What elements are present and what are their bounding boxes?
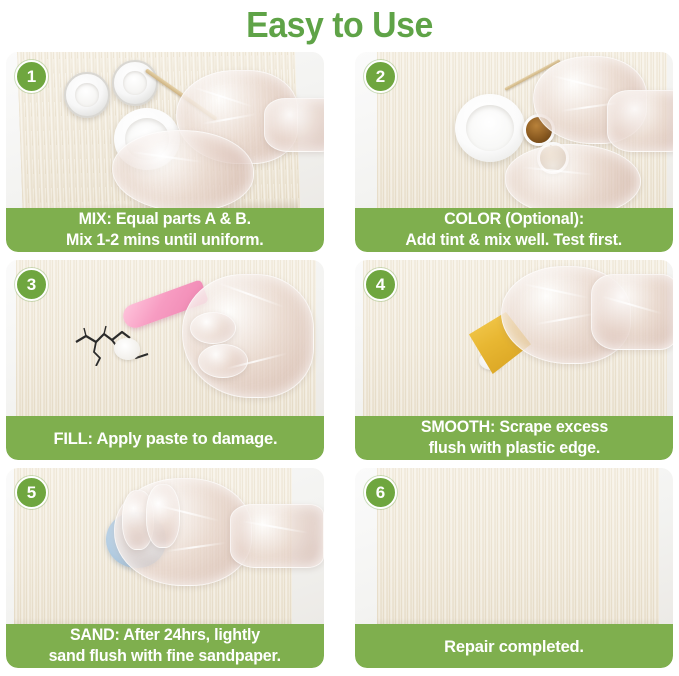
step-caption-4: SMOOTH: Scrape excess flush with plastic… bbox=[355, 416, 673, 460]
caption-line: COLOR (Optional): bbox=[444, 209, 584, 230]
step-caption-2: COLOR (Optional): Add tint & mix well. T… bbox=[355, 208, 673, 252]
step-caption-5: SAND: After 24hrs, lightly sand flush wi… bbox=[6, 624, 324, 668]
steps-grid: 1 MIX: Equal parts A & B. Mix 1-2 mins u… bbox=[6, 52, 673, 672]
instruction-graphic: Easy to Use 1 MIX: Equal parts A bbox=[0, 0, 679, 676]
step-panel-2: 2 COLOR (Optional): Add tint & mix well.… bbox=[355, 52, 673, 252]
glove-finger bbox=[146, 484, 180, 548]
caption-line: SMOOTH: Scrape excess bbox=[420, 417, 607, 438]
step-panel-1: 1 MIX: Equal parts A & B. Mix 1-2 mins u… bbox=[6, 52, 324, 252]
jar-part-a bbox=[64, 72, 110, 118]
step-photo-4 bbox=[355, 260, 673, 418]
step-panel-6: 6 Repair completed. bbox=[355, 468, 673, 668]
caption-line: Mix 1-2 mins until uniform. bbox=[66, 230, 264, 251]
caption-line: sand flush with fine sandpaper. bbox=[49, 646, 281, 667]
forearm bbox=[230, 504, 324, 568]
step-photo-6 bbox=[355, 468, 673, 626]
step-photo-1 bbox=[6, 52, 324, 210]
step-number-badge: 6 bbox=[364, 476, 397, 509]
step-caption-3: FILL: Apply paste to damage. bbox=[6, 416, 324, 460]
step-number-badge: 5 bbox=[15, 476, 48, 509]
step-number-badge: 2 bbox=[364, 60, 397, 93]
page-title: Easy to Use bbox=[20, 0, 658, 47]
caption-line: MIX: Equal parts A & B. bbox=[79, 209, 251, 230]
step-panel-5: 5 SAND: After 24hrs, lightly sand flush … bbox=[6, 468, 324, 668]
glove-finger bbox=[190, 312, 236, 344]
glove-finger bbox=[198, 344, 248, 378]
wood-board-repaired bbox=[377, 468, 659, 626]
caption-line: SAND: After 24hrs, lightly bbox=[70, 625, 260, 646]
step-panel-3: 3 FILL: Apply paste to damage. bbox=[6, 260, 324, 460]
step-number-badge: 4 bbox=[364, 268, 397, 301]
caption-line: flush with plastic edge. bbox=[428, 438, 599, 459]
gloved-hand-lower bbox=[112, 130, 254, 210]
step-caption-6: Repair completed. bbox=[355, 624, 673, 668]
step-number-badge: 1 bbox=[15, 60, 48, 93]
caption-line: Add tint & mix well. Test first. bbox=[406, 230, 623, 251]
caption-line: Repair completed. bbox=[444, 636, 584, 657]
step-panel-4: 4 SMOOTH: Scrape excess flush with plast… bbox=[355, 260, 673, 460]
caption-line: FILL: Apply paste to damage. bbox=[53, 428, 277, 449]
paste-blob bbox=[114, 338, 140, 360]
step-photo-3 bbox=[6, 260, 324, 418]
jar-part-b bbox=[112, 60, 158, 106]
step-number-badge: 3 bbox=[15, 268, 48, 301]
step-photo-2 bbox=[355, 52, 673, 210]
forearm bbox=[264, 98, 324, 152]
mixing-dish bbox=[455, 94, 525, 162]
forearm bbox=[607, 90, 673, 152]
step-caption-1: MIX: Equal parts A & B. Mix 1-2 mins unt… bbox=[6, 208, 324, 252]
step-photo-5 bbox=[6, 468, 324, 626]
